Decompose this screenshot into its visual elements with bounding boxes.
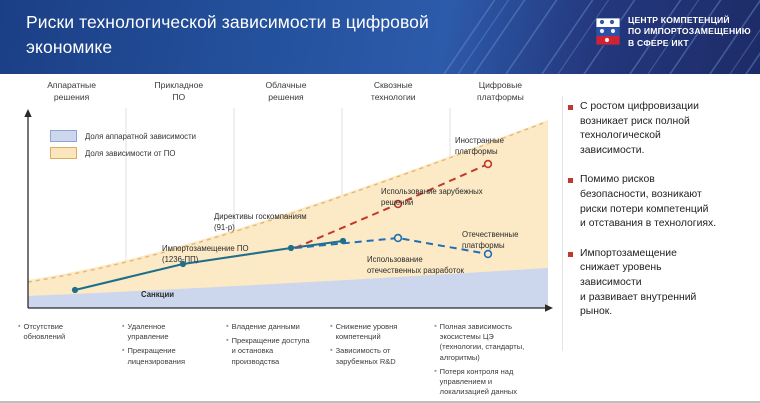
legend-item-software: Доля зависимости от ПО — [50, 147, 250, 159]
annotation-import-substitution: Импортозамещение ПО (1236-ПП) — [162, 244, 249, 265]
legend-swatch-hardware — [50, 130, 77, 142]
conclusion-item-3: Импортозамещение снижает уровень зависим… — [568, 247, 754, 320]
russian-flag-puzzle-icon — [595, 17, 621, 47]
list-item-label: Владение данными — [232, 322, 300, 332]
list-item-label: Прекращение доступа и остановка производ… — [232, 336, 310, 367]
org-logo: ЦЕНТР КОМПЕТЕНЦИЙ ПО ИМПОРТОЗАМЕЩЕНИЮ В … — [595, 15, 751, 49]
bullet-icon: ▪ — [226, 336, 228, 367]
annotation-domestic-development: Использование отечественных разработок — [367, 255, 464, 276]
conclusion-item-1: С ростом цифровизации возникает риск пол… — [568, 100, 754, 158]
legend-label-hardware: Доля аппаратной зависимости — [85, 132, 196, 141]
column-header-hardware: Аппаратные решения — [18, 80, 125, 110]
risk-area-chart: Доля аппаратной зависимости Доля зависим… — [18, 108, 558, 318]
chart-legend: Доля аппаратной зависимости Доля зависим… — [50, 130, 250, 164]
square-bullet-icon — [568, 178, 573, 183]
square-bullet-icon — [568, 105, 573, 110]
column-header-software: Прикладное ПО — [125, 80, 232, 110]
list-item: ▪ Удаленное управление — [122, 322, 221, 342]
legend-label-software: Доля зависимости от ПО — [85, 149, 175, 158]
org-logo-text: ЦЕНТР КОМПЕТЕНЦИЙ ПО ИМПОРТОЗАМЕЩЕНИЮ В … — [628, 15, 751, 49]
column-header-cloud: Облачные решения — [232, 80, 339, 110]
bullet-icon: ▪ — [18, 322, 20, 342]
list-item-label: Прекращение лицензирования — [128, 346, 186, 366]
list-item: ▪ Полная зависимость экосистемы ЦЭ (техн… — [434, 322, 555, 363]
page-title: Риски технологической зависимости в цифр… — [26, 10, 446, 60]
panel-divider — [562, 96, 563, 351]
conclusions-panel: С ростом цифровизации возникает риск пол… — [568, 100, 754, 335]
column-header-platforms: Цифровые платформы — [447, 80, 554, 110]
x-axis-arrow — [545, 304, 553, 311]
risk-column-platforms: ▪ Полная зависимость экосистемы ЦЭ (техн… — [434, 322, 560, 398]
annotation-foreign-solutions: Использование зарубежных решений — [381, 187, 483, 208]
slide-header: Риски технологической зависимости в цифр… — [0, 0, 760, 74]
list-item: ▪ Потеря контроля над управлением и лока… — [434, 367, 555, 398]
legend-item-hardware: Доля аппаратной зависимости — [50, 130, 250, 142]
y-axis-arrow — [24, 109, 31, 117]
bullet-icon: ▪ — [330, 346, 332, 366]
list-item-label: Зависимость от зарубежных R&D — [336, 346, 396, 366]
conclusion-text: Импортозамещение снижает уровень зависим… — [580, 247, 696, 320]
list-item: ▪ Прекращение лицензирования — [122, 346, 221, 366]
annotation-domestic-platforms: Отечественные платформы — [462, 230, 518, 251]
list-item: ▪ Отсутствие обновлений — [18, 322, 117, 342]
legend-swatch-software — [50, 147, 77, 159]
list-item: ▪ Зависимость от зарубежных R&D — [330, 346, 429, 366]
list-item: ▪ Снижение уровня компетенций — [330, 322, 429, 342]
list-item: ▪ Прекращение доступа и остановка произв… — [226, 336, 325, 367]
bullet-icon: ▪ — [226, 322, 228, 332]
bullet-icon: ▪ — [122, 322, 124, 342]
risk-column-software: ▪ Удаленное управление ▪ Прекращение лиц… — [122, 322, 226, 398]
list-item-label: Полная зависимость экосистемы ЦЭ (технол… — [440, 322, 525, 363]
annotation-sanctions: Санкции — [141, 290, 174, 301]
column-header-crosscut: Сквозные технологии — [340, 80, 447, 110]
slide-root: Риски технологической зависимости в цифр… — [0, 0, 760, 403]
conclusion-item-2: Помимо рисков безопасности, возникают ри… — [568, 173, 754, 231]
list-item-label: Снижение уровня компетенций — [336, 322, 398, 342]
annotation-directives: Директивы госкомпаниям (91-р) — [214, 212, 307, 233]
conclusion-text: С ростом цифровизации возникает риск пол… — [580, 100, 699, 158]
conclusion-text: Помимо рисков безопасности, возникают ри… — [580, 173, 716, 231]
list-item-label: Потеря контроля над управлением и локали… — [440, 367, 517, 398]
bullet-icon: ▪ — [434, 322, 436, 363]
column-headers: Аппаратные решения Прикладное ПО Облачны… — [18, 80, 554, 110]
bullet-icon: ▪ — [434, 367, 436, 398]
square-bullet-icon — [568, 252, 573, 257]
list-item-label: Удаленное управление — [128, 322, 169, 342]
risk-column-hardware: ▪ Отсутствие обновлений — [18, 322, 122, 398]
bullet-icon: ▪ — [330, 322, 332, 342]
annotation-foreign-platforms: Иностранные платформы — [455, 136, 504, 157]
list-item: ▪ Владение данными — [226, 322, 325, 332]
bullet-icon: ▪ — [122, 346, 124, 366]
list-item-label: Отсутствие обновлений — [23, 322, 65, 342]
risk-columns: ▪ Отсутствие обновлений ▪ Удаленное упра… — [18, 322, 560, 398]
risk-column-cloud: ▪ Владение данными ▪ Прекращение доступа… — [226, 322, 330, 398]
risk-column-crosscut: ▪ Снижение уровня компетенций ▪ Зависимо… — [330, 322, 434, 398]
